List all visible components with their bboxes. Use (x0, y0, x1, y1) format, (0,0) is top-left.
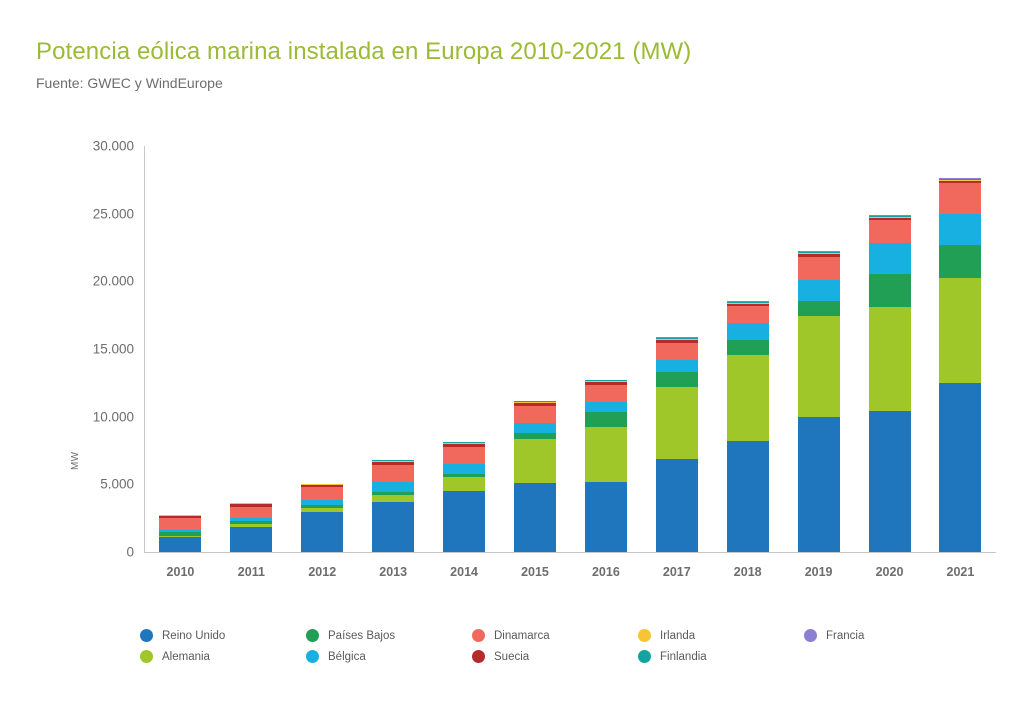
y-axis-tick-label: 5.000 (100, 477, 134, 492)
stacked-bar[interactable] (230, 503, 272, 552)
legend-item[interactable]: Países Bajos (306, 625, 472, 646)
x-axis-tick-label: 2021 (925, 558, 995, 584)
chart-source: Fuente: GWEC y WindEurope (36, 75, 691, 91)
legend-color-dot-icon (306, 650, 319, 663)
bar-segment[interactable] (443, 464, 485, 474)
stacked-bar[interactable] (159, 515, 201, 552)
y-axis-tick-label: 10.000 (93, 409, 134, 424)
page-title: Potencia eólica marina instalada en Euro… (36, 38, 691, 66)
bar-segment[interactable] (585, 412, 627, 427)
stacked-bar[interactable] (372, 460, 414, 552)
stacked-bar[interactable] (727, 301, 769, 552)
legend-item-label: Irlanda (660, 630, 695, 642)
bar-segment[interactable] (514, 439, 556, 484)
x-axis-tick-label: 2016 (571, 558, 641, 584)
stacked-bar[interactable] (585, 380, 627, 552)
legend-item-label: Finlandia (660, 651, 707, 663)
bar-column[interactable] (216, 146, 286, 552)
legend-item[interactable]: Bélgica (306, 646, 472, 667)
bar-column[interactable] (358, 146, 428, 552)
bar-segment[interactable] (514, 423, 556, 433)
x-axis-tick-label: 2019 (784, 558, 854, 584)
legend-item-label: Bélgica (328, 651, 366, 663)
bar-segment[interactable] (372, 482, 414, 492)
bar-segment[interactable] (656, 372, 698, 387)
bar-segment[interactable] (939, 245, 981, 278)
plot-area: MW 30.00025.00020.00015.00010.0005.0000 … (36, 140, 996, 570)
y-axis-ticks: 30.00025.00020.00015.00010.0005.0000 (36, 140, 134, 552)
bar-column[interactable] (784, 146, 854, 552)
stacked-bar[interactable] (656, 337, 698, 552)
chart-page: Potencia eólica marina instalada en Euro… (0, 0, 1024, 717)
x-axis-tick-label: 2013 (358, 558, 428, 584)
legend-item[interactable]: Francia (804, 625, 970, 646)
y-axis-tick-label: 25.000 (93, 206, 134, 221)
y-axis-tick-label: 0 (126, 545, 134, 560)
bar-segment[interactable] (301, 512, 343, 552)
legend-item-label: Dinamarca (494, 630, 550, 642)
bar-segment[interactable] (939, 278, 981, 383)
bar-segment[interactable] (443, 491, 485, 552)
legend-color-dot-icon (306, 629, 319, 642)
legend-item[interactable]: Reino Unido (140, 625, 306, 646)
bar-segment[interactable] (372, 465, 414, 482)
bar-segment[interactable] (727, 340, 769, 355)
bar-segment[interactable] (585, 482, 627, 552)
bar-segment[interactable] (869, 411, 911, 552)
x-axis-tick-label: 2018 (713, 558, 783, 584)
stacked-bar[interactable] (514, 401, 556, 552)
bar-segment[interactable] (656, 459, 698, 552)
bar-segment[interactable] (798, 417, 840, 552)
bar-segment[interactable] (869, 274, 911, 307)
legend-item[interactable]: Alemania (140, 646, 306, 667)
legend-item-label: Alemania (162, 651, 210, 663)
bar-column[interactable] (713, 146, 783, 552)
legend-item[interactable]: Suecia (472, 646, 638, 667)
stacked-bar[interactable] (939, 178, 981, 552)
legend-item-label: Países Bajos (328, 630, 395, 642)
bar-segment[interactable] (372, 495, 414, 502)
bar-segment[interactable] (656, 360, 698, 372)
chart-legend: Reino UnidoAlemaniaPaíses BajosBélgicaDi… (140, 625, 970, 667)
bar-segment[interactable] (230, 527, 272, 552)
x-axis-line (144, 552, 996, 553)
bar-segment[interactable] (159, 518, 201, 530)
x-axis-tick-label: 2011 (216, 558, 286, 584)
bar-segment[interactable] (939, 183, 981, 214)
bar-segment[interactable] (727, 441, 769, 552)
x-axis-tick-label: 2017 (642, 558, 712, 584)
y-axis-tick-label: 15.000 (93, 342, 134, 357)
stacked-bar[interactable] (301, 484, 343, 552)
bar-segment[interactable] (798, 257, 840, 280)
legend-item-label: Suecia (494, 651, 529, 663)
bar-column[interactable] (855, 146, 925, 552)
bar-segment[interactable] (585, 385, 627, 402)
bar-column[interactable] (145, 146, 215, 552)
bar-segment[interactable] (585, 427, 627, 483)
legend-item[interactable]: Irlanda (638, 625, 804, 646)
x-axis-tick-label: 2015 (500, 558, 570, 584)
x-axis-tick-label: 2010 (145, 558, 215, 584)
bar-segment[interactable] (301, 487, 343, 499)
bar-column[interactable] (287, 146, 357, 552)
bar-segment[interactable] (939, 214, 981, 245)
bar-segment[interactable] (656, 387, 698, 459)
bar-column[interactable] (925, 146, 995, 552)
legend-item[interactable]: Dinamarca (472, 625, 638, 646)
bar-segment[interactable] (656, 343, 698, 360)
bar-segment[interactable] (869, 243, 911, 274)
bar-segment[interactable] (443, 477, 485, 491)
bar-group (145, 146, 996, 552)
bar-segment[interactable] (514, 483, 556, 552)
legend-item[interactable]: Finlandia (638, 646, 804, 667)
y-axis-tick-label: 20.000 (93, 274, 134, 289)
bar-segment[interactable] (798, 316, 840, 418)
bar-segment[interactable] (372, 502, 414, 552)
bar-segment[interactable] (869, 307, 911, 411)
legend-color-dot-icon (140, 650, 153, 663)
bar-column[interactable] (642, 146, 712, 552)
bar-column[interactable] (571, 146, 641, 552)
legend-color-dot-icon (140, 629, 153, 642)
legend-item-label: Francia (826, 630, 864, 642)
bar-segment[interactable] (727, 355, 769, 442)
bar-segment[interactable] (727, 306, 769, 323)
legend-color-dot-icon (638, 629, 651, 642)
legend-color-dot-icon (804, 629, 817, 642)
bar-segment[interactable] (798, 280, 840, 301)
stacked-bar[interactable] (443, 442, 485, 552)
x-axis-ticks: 2010201120122013201420152016201720182019… (145, 558, 996, 584)
x-axis-tick-label: 2020 (855, 558, 925, 584)
y-axis-tick-label: 30.000 (93, 139, 134, 154)
bar-segment[interactable] (939, 383, 981, 552)
stacked-bar[interactable] (869, 215, 911, 553)
bar-segment[interactable] (585, 402, 627, 412)
legend-color-dot-icon (472, 629, 485, 642)
bar-segment[interactable] (727, 323, 769, 339)
legend-color-dot-icon (472, 650, 485, 663)
bar-segment[interactable] (514, 406, 556, 423)
legend-item-label: Reino Unido (162, 630, 225, 642)
stacked-bar[interactable] (798, 251, 840, 552)
chart-header: Potencia eólica marina instalada en Euro… (36, 38, 691, 91)
bar-segment[interactable] (230, 507, 272, 519)
x-axis-tick-label: 2012 (287, 558, 357, 584)
legend-color-dot-icon (638, 650, 651, 663)
bar-column[interactable] (500, 146, 570, 552)
bar-column[interactable] (429, 146, 499, 552)
bar-segment[interactable] (159, 537, 201, 552)
bar-segment[interactable] (443, 447, 485, 464)
bar-segment[interactable] (798, 301, 840, 316)
x-axis-tick-label: 2014 (429, 558, 499, 584)
bar-segment[interactable] (869, 220, 911, 243)
